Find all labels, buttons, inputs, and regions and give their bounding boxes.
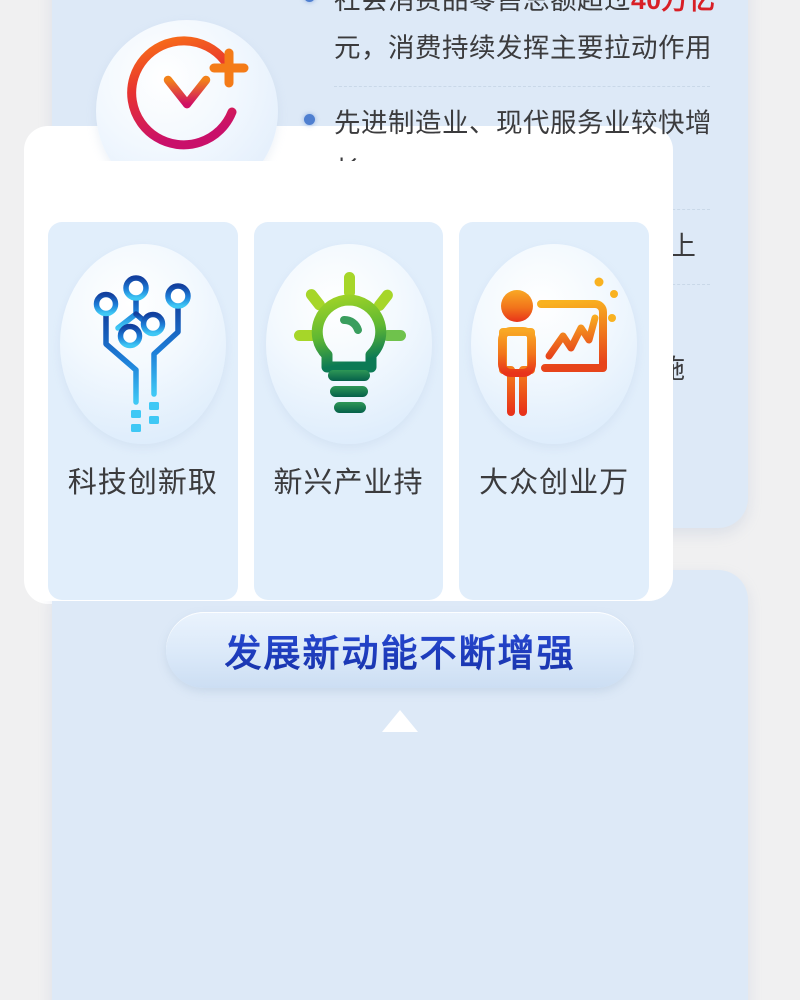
circuit-tech-icon bbox=[60, 244, 226, 444]
bullet-dot-icon bbox=[304, 0, 315, 2]
circuit-tech-icon-bubble bbox=[60, 244, 226, 444]
person-chart-icon bbox=[471, 244, 637, 444]
pointer-triangle-icon bbox=[382, 710, 418, 732]
lightbulb-icon bbox=[266, 244, 432, 444]
panel-tech-innovation[interactable]: 科技创新取 bbox=[48, 222, 238, 600]
panel-label-industry: 新兴产业持 bbox=[254, 462, 444, 504]
divider bbox=[334, 86, 710, 87]
momentum-card-outer: 发展新动能不断增强 bbox=[52, 570, 748, 1000]
panel-emerging-industry[interactable]: 新兴产业持 bbox=[254, 222, 444, 600]
bullet-text-1: 社会消费品零售总额超过40万亿元，消费持续发挥主要拉动作用 bbox=[334, 0, 720, 72]
list-item: 社会消费品零售总额超过40万亿元，消费持续发挥主要拉动作用 bbox=[300, 0, 720, 72]
panel-label-entrepreneurship: 大众创业万 bbox=[459, 462, 649, 504]
momentum-panel-list: 科技创新取 bbox=[24, 188, 673, 600]
panel-label-tech: 科技创新取 bbox=[48, 462, 238, 504]
panel-mass-entrepreneurship[interactable]: 大众创业万 bbox=[459, 222, 649, 600]
lightbulb-icon-bubble bbox=[266, 244, 432, 444]
bullet-dot-icon bbox=[304, 114, 315, 125]
person-chart-icon-bubble bbox=[471, 244, 637, 444]
section-title-pill: 发展新动能不断增强 bbox=[166, 612, 634, 688]
page-title: 发展新动能不断增强 bbox=[225, 623, 576, 677]
